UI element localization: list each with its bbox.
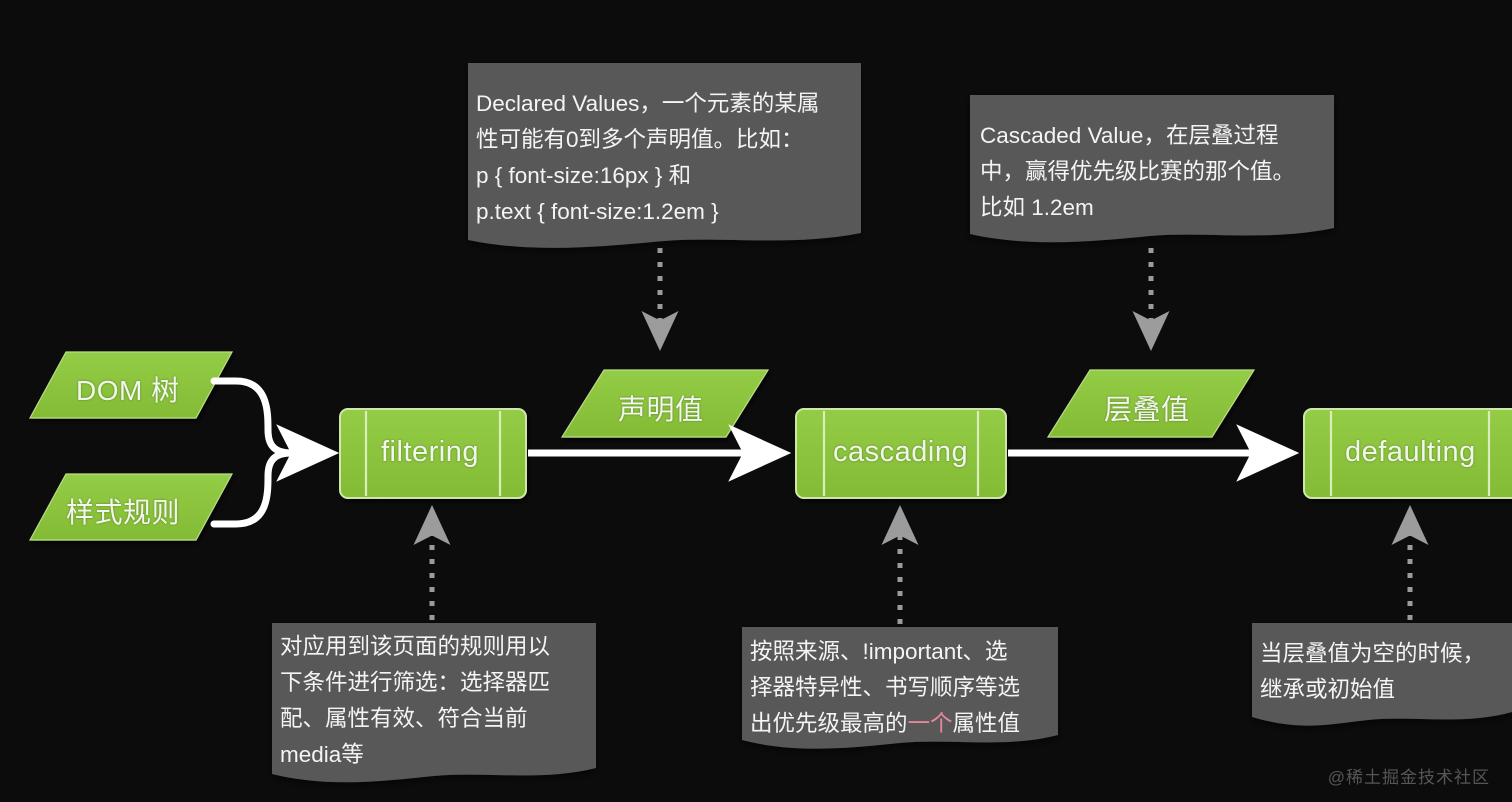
callout-cascaded-value-note-body bbox=[970, 95, 1334, 242]
callout-text-filtering-note: 对应用到该页面的规则用以 下条件进行筛选：选择器匹 配、属性有效、符合当前 me… bbox=[280, 629, 590, 773]
callout-defaulting-note-body bbox=[1252, 623, 1512, 726]
node-label-cascaded-value: 层叠值 bbox=[1104, 388, 1190, 428]
callout-cascading-note-body bbox=[742, 627, 1058, 749]
callout-cascading-text-highlight: 一个 bbox=[908, 711, 953, 736]
node-label-dom-tree: DOM 树 bbox=[76, 369, 180, 409]
callout-text-declared-values-note: Declared Values，一个元素的某属 性可能有0到多个声明值。比如： … bbox=[476, 86, 858, 230]
callout-text-cascading-note: 按照来源、!important、选 择器特异性、书写顺序等选 出优先级最高的一个… bbox=[750, 634, 1056, 742]
node-cascading[interactable] bbox=[796, 409, 1006, 498]
node-style-rules[interactable] bbox=[30, 474, 232, 540]
node-filtering[interactable] bbox=[340, 409, 526, 498]
diagram-canvas: DOM 树 样式规则 声明值 层叠值 filtering cascading d… bbox=[0, 0, 1512, 802]
callout-cascading-text-before: 按照来源、!important、选 择器特异性、书写顺序等选 出优先级最高的 bbox=[750, 639, 1020, 736]
node-defaulting[interactable] bbox=[1304, 409, 1512, 498]
callout-cascading-text-after: 属性值 bbox=[953, 711, 1021, 736]
diagram-shapes-layer bbox=[0, 0, 1512, 802]
node-label-filtering: filtering bbox=[381, 436, 479, 469]
node-cascaded-value[interactable] bbox=[1048, 370, 1254, 437]
node-label-cascading: cascading bbox=[833, 436, 968, 469]
node-dom-tree[interactable] bbox=[30, 352, 232, 418]
callout-text-cascaded-value-note: Cascaded Value，在层叠过程 中，赢得优先级比赛的那个值。 比如 1… bbox=[980, 118, 1330, 226]
callout-filtering-note-body bbox=[272, 623, 596, 782]
callout-text-defaulting-note: 当层叠值为空的时候， 继承或初始值 bbox=[1260, 636, 1510, 708]
node-label-declared-values: 声明值 bbox=[618, 388, 704, 428]
watermark: @稀土掘金技术社区 bbox=[1328, 763, 1490, 788]
node-label-style-rules: 样式规则 bbox=[66, 491, 180, 531]
connector-inputs-to-filtering bbox=[214, 381, 328, 524]
node-label-defaulting: defaulting bbox=[1345, 436, 1476, 469]
callout-declared-values-note-body bbox=[468, 63, 861, 248]
node-declared-values[interactable] bbox=[562, 370, 768, 437]
